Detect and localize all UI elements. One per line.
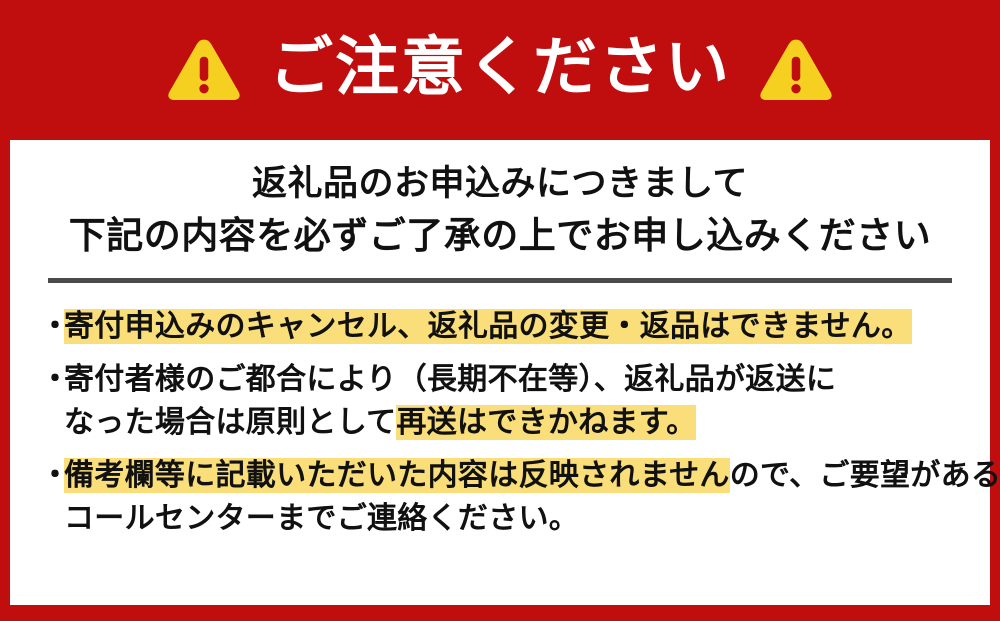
- notes-list: ・寄付申込みのキャンセル、返礼品の変更・返品はできません。・寄付者様のご都合によ…: [36, 305, 964, 550]
- list-item-line: コールセンターまでご連絡ください。: [64, 497, 1000, 541]
- highlighted-text: 寄付申込みのキャンセル、返礼品の変更・返品はできません。: [64, 309, 912, 344]
- list-item: ・寄付者様のご都合により（長期不在等）、返礼品が返送になった場合は原則として再送…: [40, 358, 964, 445]
- intro-line-2: 下記の内容を必ずご了承の上でお申し込みください: [36, 210, 964, 263]
- plain-text: ので、ご要望がある際は: [730, 458, 1000, 493]
- section-divider: [48, 278, 952, 283]
- list-bullet-icon: ・: [40, 454, 64, 498]
- list-item: ・寄付申込みのキャンセル、返礼品の変更・返品はできません。: [40, 305, 964, 349]
- warning-triangle-icon-left: [165, 35, 243, 105]
- list-item-line: 備考欄等に記載いただいた内容は反映されませんので、ご要望がある際は: [64, 454, 1000, 498]
- highlighted-text: 備考欄等に記載いただいた内容は反映されません: [64, 458, 730, 493]
- list-bullet-icon: ・: [40, 358, 64, 402]
- page-title: ご注意ください: [269, 36, 731, 100]
- intro-line-1: 返礼品のお申込みにつきまして: [36, 160, 964, 210]
- list-item-text: 備考欄等に記載いただいた内容は反映されませんので、ご要望がある際はコールセンター…: [64, 454, 1000, 541]
- notice-panel: 返礼品のお申込みにつきまして 下記の内容を必ずご了承の上でお申し込みください ・…: [10, 140, 990, 605]
- intro-heading: 返礼品のお申込みにつきまして 下記の内容を必ずご了承の上でお申し込みください: [36, 160, 964, 262]
- list-item: ・備考欄等に記載いただいた内容は反映されませんので、ご要望がある際はコールセンタ…: [40, 454, 964, 541]
- banner-header: ご注意ください: [0, 0, 1000, 140]
- list-item-line: 寄付申込みのキャンセル、返礼品の変更・返品はできません。: [64, 305, 964, 349]
- list-bullet-icon: ・: [40, 305, 64, 349]
- list-item-line: 寄付者様のご都合により（長期不在等）、返礼品が返送に: [64, 358, 964, 402]
- warning-triangle-icon-right: [757, 35, 835, 105]
- list-item-text: 寄付者様のご都合により（長期不在等）、返礼品が返送になった場合は原則として再送は…: [64, 358, 964, 445]
- plain-text: コールセンターまでご連絡ください。: [64, 501, 579, 536]
- list-item-line: なった場合は原則として再送はできかねます。: [64, 401, 964, 445]
- list-item-text: 寄付申込みのキャンセル、返礼品の変更・返品はできません。: [64, 305, 964, 349]
- plain-text: なった場合は原則として: [64, 405, 396, 440]
- highlighted-text: 再送はできかねます。: [396, 405, 696, 440]
- notice-banner: ご注意ください 返礼品のお申込みにつきまして 下記の内容を必ずご了承の上でお申し…: [0, 0, 1000, 621]
- plain-text: 寄付者様のご都合により（長期不在等）、返礼品が返送に: [64, 362, 836, 397]
